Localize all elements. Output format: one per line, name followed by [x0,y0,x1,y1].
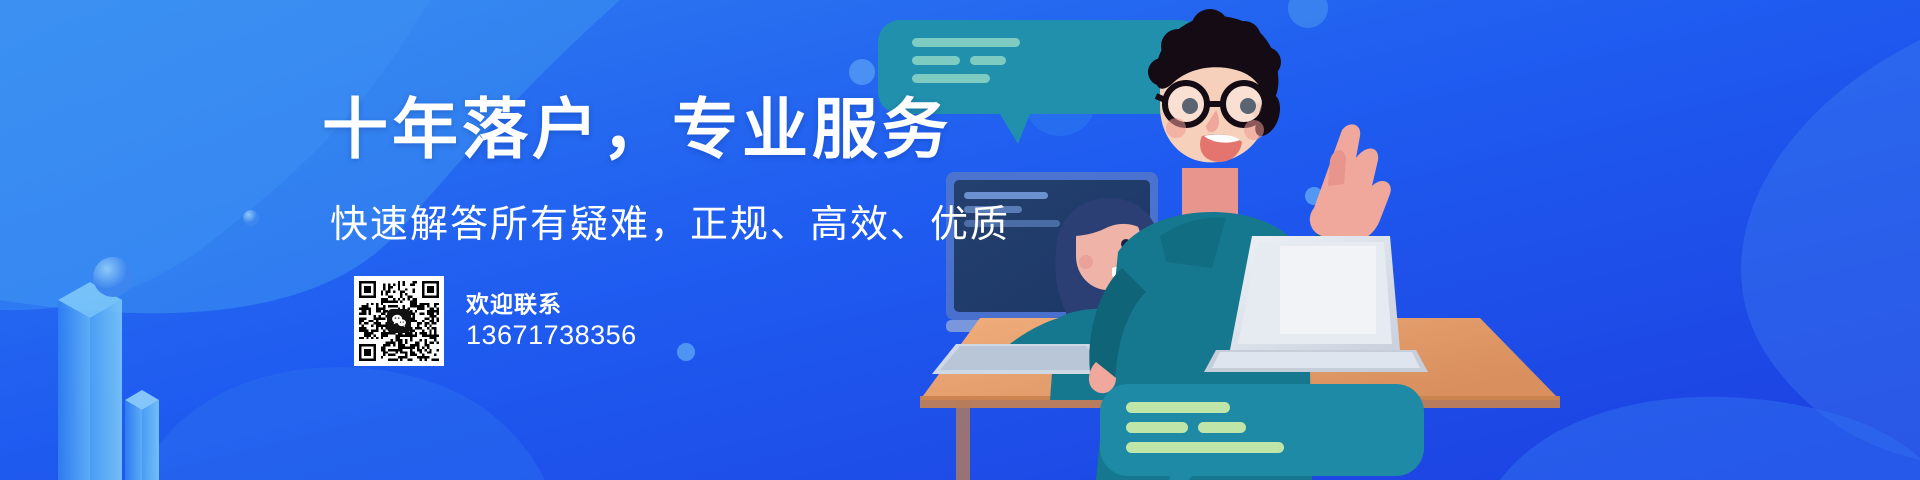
waving-hand [1310,124,1391,243]
page-title: 十年落户，专业服务 [322,96,1042,162]
contact-phone-number[interactable]: 13671738356 [466,321,637,351]
contact-label: 欢迎联系 [466,292,637,317]
tall-3d-bar [58,282,122,480]
chat-bubble-bottom [1100,384,1424,480]
text-block: 十年落户，专业服务 快速解答所有疑难，正规、高效、优质 [322,96,1042,396]
subtitle: 快速解答所有疑难，正规、高效、优质 [330,206,1010,244]
wechat-icon [387,309,411,333]
small-dot-left [243,210,259,226]
contact-text: 欢迎联系 13671738356 [466,292,637,351]
short-3d-bar [125,390,159,480]
mid-dot-left [93,257,133,297]
wechat-qr-code[interactable] [354,276,444,366]
promo-banner: 十年落户，专业服务 快速解答所有疑难，正规、高效、优质 [0,0,1920,480]
contact-row: 欢迎联系 13671738356 [354,276,637,366]
